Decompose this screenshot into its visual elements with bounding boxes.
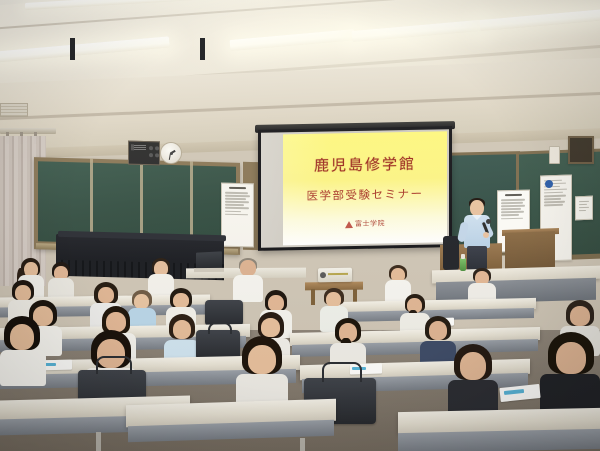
wall-clock <box>160 142 182 164</box>
notice-heading <box>229 187 245 189</box>
attendee-head <box>460 352 486 380</box>
poster-text-line <box>579 207 589 209</box>
poster-text-line <box>544 201 565 203</box>
clock-center <box>170 152 173 155</box>
poster-text-line <box>579 200 589 202</box>
speaker-knob[interactable] <box>149 153 153 157</box>
speaker-panel <box>128 141 160 166</box>
notice-text-line <box>225 192 248 194</box>
logo-mark-icon <box>345 221 353 228</box>
notice-text-line <box>501 205 525 207</box>
slide-logo-text: 富士学院 <box>355 218 385 229</box>
attendee-head <box>261 318 280 337</box>
attendee-head <box>570 306 590 326</box>
stand-leg <box>311 289 315 305</box>
desk-row-panel <box>398 429 600 451</box>
attendee <box>448 344 498 418</box>
attendee-head <box>15 285 31 301</box>
attendee-head <box>173 320 191 339</box>
bag-handle <box>208 322 232 334</box>
attendee-head <box>429 321 447 340</box>
notice-text-line <box>501 202 523 204</box>
attendee <box>233 258 263 302</box>
notice-text-line <box>501 199 525 201</box>
attendee <box>0 316 46 386</box>
attendee-torso <box>0 350 46 386</box>
presentation-slide: 鹿児島修学館 医学部受験セミナー 富士学院 <box>283 131 447 245</box>
wall-poster-small <box>575 196 593 221</box>
speaker-knob[interactable] <box>155 153 159 157</box>
presenter-head <box>470 200 484 216</box>
notice-text-line <box>225 207 249 209</box>
attendee-head <box>326 292 341 307</box>
slide-logo: 富士学院 <box>345 218 385 229</box>
attendee-head <box>240 260 256 276</box>
slide-subtitle: 医学部受験セミナー <box>307 186 424 204</box>
speaker-grill-icon <box>131 145 146 151</box>
notice-text-line <box>501 208 521 210</box>
poster-blue-circle-icon <box>545 180 553 188</box>
hand-sanitizer-cap <box>461 254 465 259</box>
poster-text-line <box>544 198 561 200</box>
notice-text-line <box>225 195 250 197</box>
light-switch[interactable] <box>549 146 560 164</box>
desk-leg <box>300 438 305 451</box>
microphone-head-icon <box>486 219 491 224</box>
notice-text-line <box>501 211 524 213</box>
wall-vent <box>0 103 28 117</box>
framed-picture <box>568 136 594 164</box>
desk-leg <box>96 432 101 451</box>
attendee-head <box>98 287 114 303</box>
piano-leg <box>70 38 75 60</box>
bag-handle <box>96 356 132 374</box>
lecture-hall-photo: 鹿児島修学館 医学部受験セミナー 富士学院 <box>0 0 600 451</box>
notice-text-line <box>225 204 244 206</box>
poster-text-line <box>579 204 587 206</box>
attendee-head <box>10 324 34 350</box>
projector-lens-icon <box>320 272 326 278</box>
attendee-head <box>268 295 284 311</box>
poster-text-line <box>544 192 563 194</box>
attendee-head <box>134 294 149 309</box>
laptop-base <box>194 268 224 272</box>
speaker-knob[interactable] <box>149 146 153 150</box>
projector-stripe <box>328 273 348 275</box>
bag-handle <box>322 362 362 382</box>
attendee-head <box>556 342 586 374</box>
poster-text-line <box>544 204 563 206</box>
notice-text-line <box>225 201 249 203</box>
notice-heading <box>505 194 521 196</box>
screen-surface: 鹿児島修学館 医学部受験セミナー 富士学院 <box>261 129 449 248</box>
attendee-head <box>106 312 126 332</box>
poster-text-line <box>579 210 586 212</box>
notice-text-line <box>225 213 248 215</box>
poster-text-line <box>544 195 566 197</box>
projector-screen: 鹿児島修学館 医学部受験セミナー 富士学院 <box>258 126 452 251</box>
notice-text-line <box>501 217 523 219</box>
slide-title: 鹿児島修学館 <box>314 153 416 176</box>
presenter-hand <box>483 232 489 238</box>
attendee-head <box>173 293 189 308</box>
poster-text-line <box>544 188 567 190</box>
speaker-knob[interactable] <box>155 146 159 150</box>
laptop[interactable] <box>196 251 222 269</box>
attendee-torso <box>233 275 263 302</box>
hand-sanitizer <box>460 258 466 271</box>
attendee-head <box>248 345 276 374</box>
piano-leg <box>200 38 205 60</box>
projector <box>318 268 352 282</box>
notice-text-line <box>225 198 246 200</box>
notice-text-line <box>225 210 241 212</box>
notice-text-line <box>501 214 519 216</box>
presenter-trousers <box>467 246 487 270</box>
presenter-chair <box>443 236 459 270</box>
